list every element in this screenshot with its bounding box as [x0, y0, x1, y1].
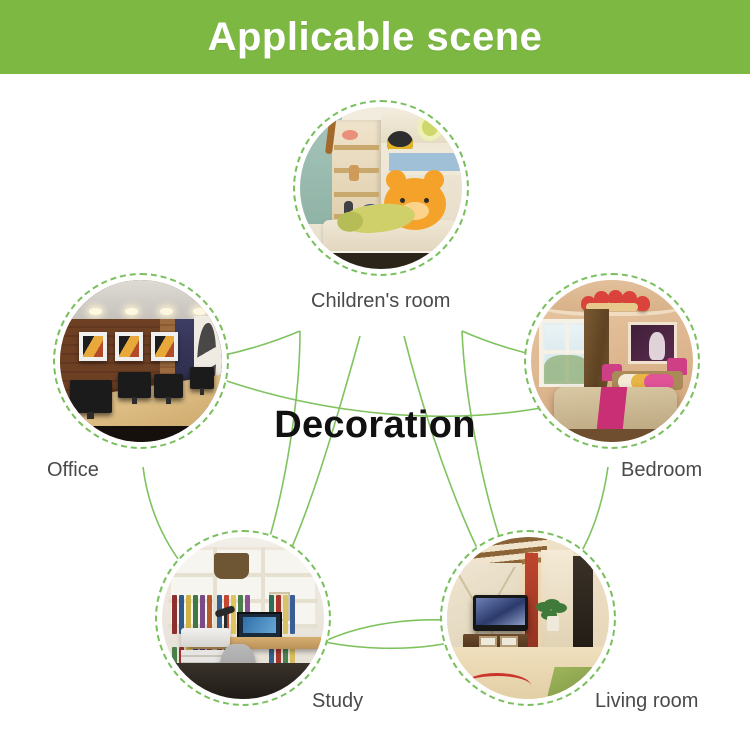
scene-diagram: Decoration Children's room	[0, 74, 750, 750]
scene-node-childrens-room[interactable]: Children's room	[293, 100, 469, 276]
label-living-room: Living room	[595, 690, 698, 713]
header-banner: Applicable scene	[0, 0, 750, 74]
office-circle[interactable]	[53, 273, 229, 449]
scene-node-bedroom[interactable]: Bedroom	[524, 273, 700, 449]
study-circle[interactable]	[155, 530, 331, 706]
label-study: Study	[312, 690, 363, 713]
living-room-circle[interactable]	[440, 530, 616, 706]
scene-node-living-room[interactable]: Living room	[440, 530, 616, 706]
living-room-photo	[447, 537, 609, 699]
label-office: Office	[47, 459, 99, 482]
childrens-room-photo	[300, 107, 462, 269]
scene-node-study[interactable]: Study	[155, 530, 331, 706]
office-photo	[60, 280, 222, 442]
study-photo	[162, 537, 324, 699]
page-title: Applicable scene	[208, 17, 543, 57]
bedroom-circle[interactable]	[524, 273, 700, 449]
childrens-room-circle[interactable]	[293, 100, 469, 276]
label-bedroom: Bedroom	[621, 459, 702, 482]
scene-node-office[interactable]: Office	[53, 273, 229, 449]
label-childrens-room: Children's room	[311, 290, 450, 313]
bedroom-photo	[531, 280, 693, 442]
